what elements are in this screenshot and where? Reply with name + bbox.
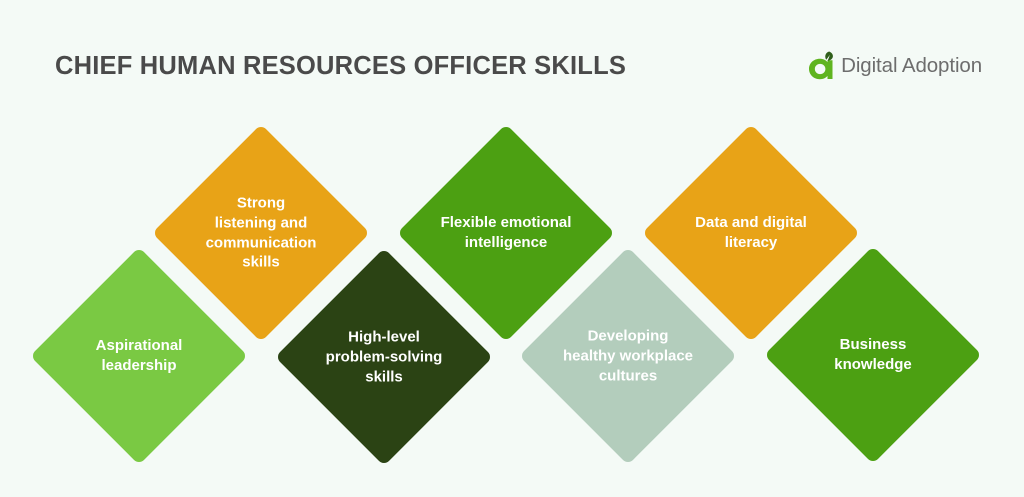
- infographic-canvas: CHIEF HUMAN RESOURCES OFFICER SKILLS Dig…: [0, 0, 1024, 497]
- skills-diamond-diagram: Aspirational leadershipStrong listening …: [0, 0, 1024, 497]
